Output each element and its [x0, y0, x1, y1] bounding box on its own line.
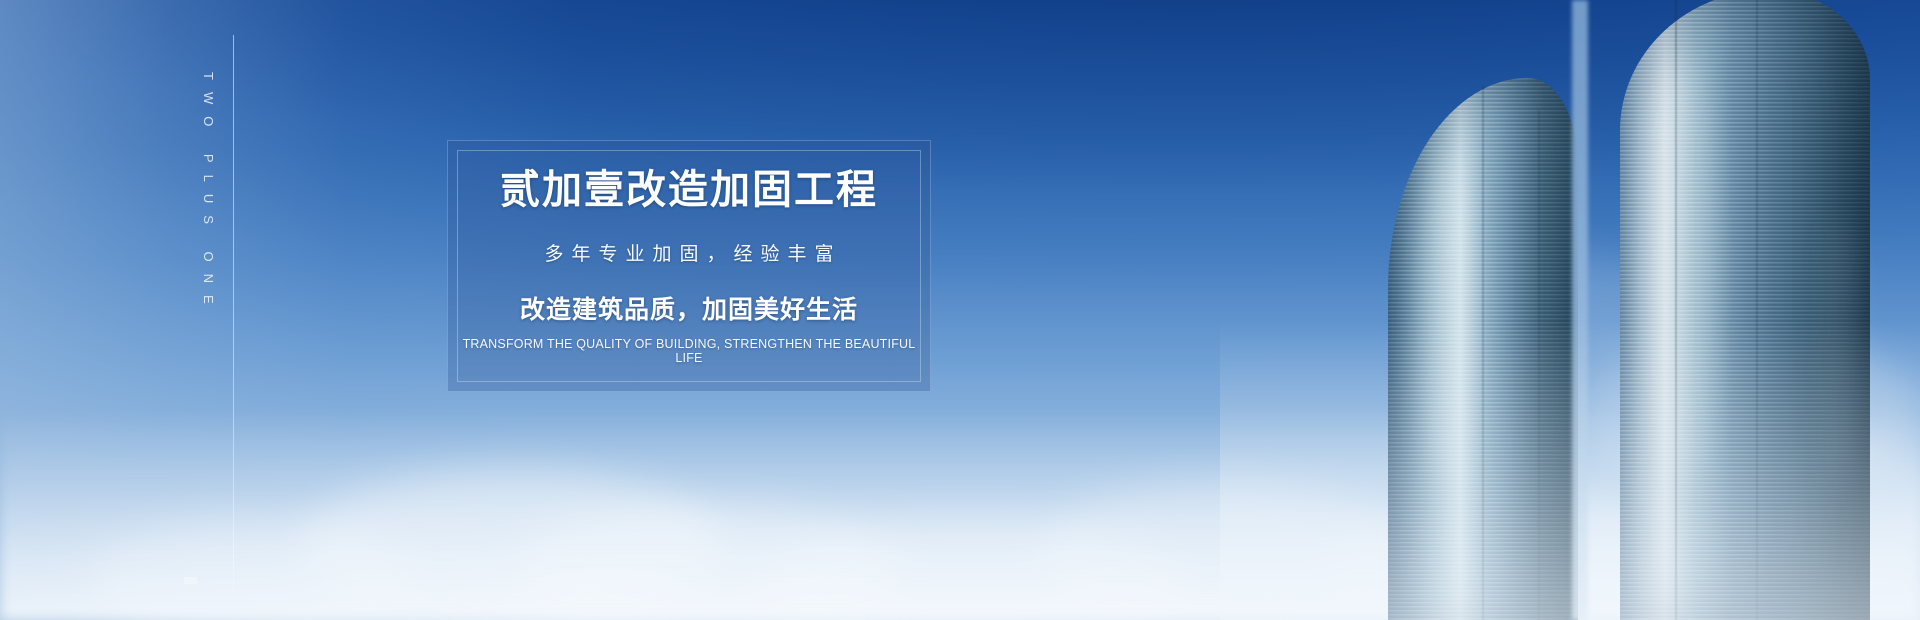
- skyscraper-group: [1220, 0, 1920, 620]
- tower-gap: [1572, 0, 1588, 620]
- hero-text-panel: 贰加壹改造加固工程 多年专业加固，经验丰富 改造建筑品质，加固美好生活 TRAN…: [447, 140, 931, 392]
- hero-english-tagline: TRANSFORM THE QUALITY OF BUILDING, STREN…: [448, 337, 930, 365]
- vertical-brand-text: TWO PLUS ONE: [170, 72, 216, 316]
- hero-title: 贰加壹改造加固工程: [448, 169, 930, 211]
- hero-slogan: 改造建筑品质，加固美好生活: [448, 290, 930, 326]
- hero-banner: TWO PLUS ONE 贰加壹改造加固工程 多年专业加固，经验丰富 改造建筑品…: [0, 0, 1920, 620]
- hero-panel-content: 贰加壹改造加固工程 多年专业加固，经验丰富 改造建筑品质，加固美好生活 TRAN…: [448, 169, 930, 365]
- corner-mark: [184, 577, 197, 584]
- hero-subtitle: 多年专业加固，经验丰富: [448, 239, 930, 266]
- vertical-divider-line: [233, 35, 234, 595]
